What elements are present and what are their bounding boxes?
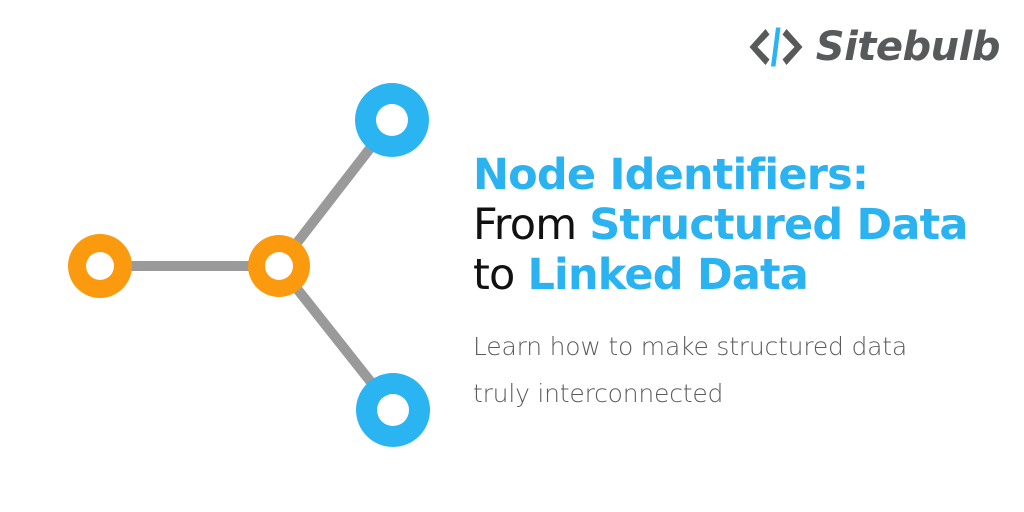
headline-line-3-accent: Linked Data	[527, 250, 808, 300]
brand-name: Sitebulb	[816, 27, 1000, 67]
graph-nodes	[68, 83, 430, 447]
headline-line-2: From Structured Data	[473, 200, 1013, 250]
headline-line-1: Node Identifiers:	[473, 150, 1013, 200]
node-left-hole	[86, 252, 114, 280]
headline-line-2-accent: Structured Data	[589, 200, 967, 250]
node-graph-illustration	[0, 0, 460, 512]
headline-line-2-plain: From	[473, 200, 589, 250]
headline-line-1-accent: Node Identifiers:	[473, 150, 868, 200]
banner: Sitebulb Node Identifiers: From Structur…	[0, 0, 1024, 512]
brand-logo[interactable]: Sitebulb	[748, 22, 1000, 72]
subtitle-line-1: Learn how to make structured data	[473, 323, 1013, 370]
headline-line-3: to Linked Data	[473, 250, 1013, 300]
graph-edges	[100, 120, 393, 410]
subtitle-line-2: truly interconnected	[473, 370, 1013, 417]
page-subtitle: Learn how to make structured data truly …	[473, 323, 1013, 417]
node-bottom-right-hole	[377, 394, 409, 426]
code-brackets-icon	[748, 22, 804, 72]
headline-line-3-plain: to	[473, 250, 527, 300]
text-content: Node Identifiers: From Structured Data t…	[473, 150, 1013, 417]
node-central-hole	[265, 252, 293, 280]
node-top-right-hole	[376, 104, 408, 136]
page-title: Node Identifiers: From Structured Data t…	[473, 150, 1013, 300]
